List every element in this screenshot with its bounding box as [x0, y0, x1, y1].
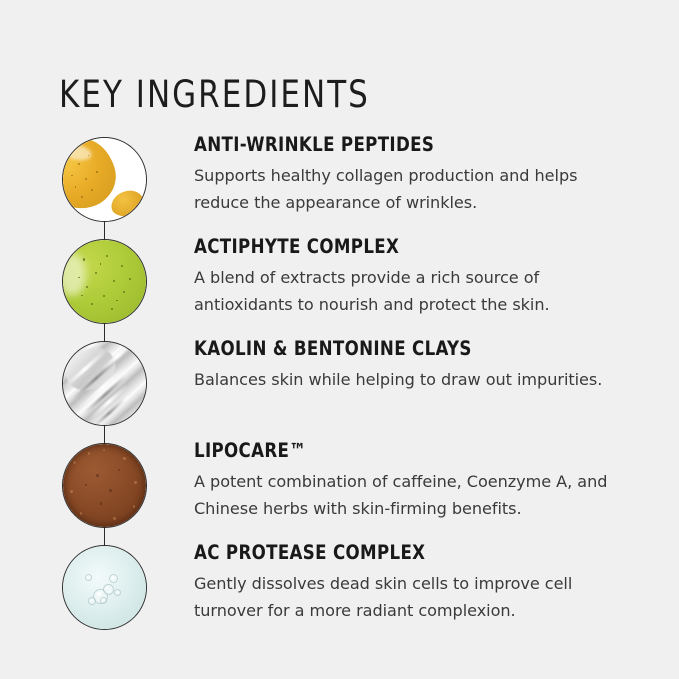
ingredient-name: AC PROTEASE COMPLEX	[194, 542, 612, 564]
ingredient-description: Supports healthy collagen production and…	[194, 162, 634, 216]
brown-powder-swatch	[62, 443, 147, 528]
ingredient-name: KAOLIN & BENTONINE CLAYS	[194, 338, 612, 360]
ingredient-name: ANTI-WRINKLE PEPTIDES	[194, 134, 612, 156]
list-item: KAOLIN & BENTONINE CLAYS Balances skin w…	[0, 332, 679, 434]
ingredient-name: ACTIPHYTE COMPLEX	[194, 236, 612, 258]
ingredient-text: LIPOCARE™ A potent combination of caffei…	[194, 440, 634, 522]
ingredient-text: AC PROTEASE COMPLEX Gently dissolves dea…	[194, 542, 634, 624]
list-item: ACTIPHYTE COMPLEX A blend of extracts pr…	[0, 230, 679, 332]
ingredient-name: LIPOCARE™	[194, 440, 612, 462]
green-paste-swatch	[62, 239, 147, 324]
ingredient-list: ANTI-WRINKLE PEPTIDES Supports healthy c…	[0, 128, 679, 638]
pale-blue-gel-swatch	[62, 545, 147, 630]
list-item: AC PROTEASE COMPLEX Gently dissolves dea…	[0, 536, 679, 638]
swatch-texture	[63, 342, 146, 425]
ingredient-description: Gently dissolves dead skin cells to impr…	[194, 570, 634, 624]
page-title: KEY INGREDIENTS	[59, 73, 370, 117]
gel-droplet	[109, 188, 146, 219]
ingredient-description: Balances skin while helping to draw out …	[194, 366, 634, 393]
ingredient-text: KAOLIN & BENTONINE CLAYS Balances skin w…	[194, 338, 634, 393]
swatch-texture	[63, 240, 146, 323]
ingredient-text: ANTI-WRINKLE PEPTIDES Supports healthy c…	[194, 134, 634, 216]
swatch-texture	[63, 444, 146, 527]
ingredient-description: A blend of extracts provide a rich sourc…	[194, 264, 634, 318]
swatch-texture	[63, 138, 146, 221]
swatch-texture	[63, 546, 146, 629]
ingredient-text: ACTIPHYTE COMPLEX A blend of extracts pr…	[194, 236, 634, 318]
list-item: LIPOCARE™ A potent combination of caffei…	[0, 434, 679, 536]
powder-rim	[63, 444, 146, 527]
amber-gel-swatch	[62, 137, 147, 222]
list-item: ANTI-WRINKLE PEPTIDES Supports healthy c…	[0, 128, 679, 230]
grey-clay-swatch	[62, 341, 147, 426]
key-ingredients-page: KEY INGREDIENTS ANTI-	[0, 0, 679, 679]
ingredient-description: A potent combination of caffeine, Coenzy…	[194, 468, 634, 522]
